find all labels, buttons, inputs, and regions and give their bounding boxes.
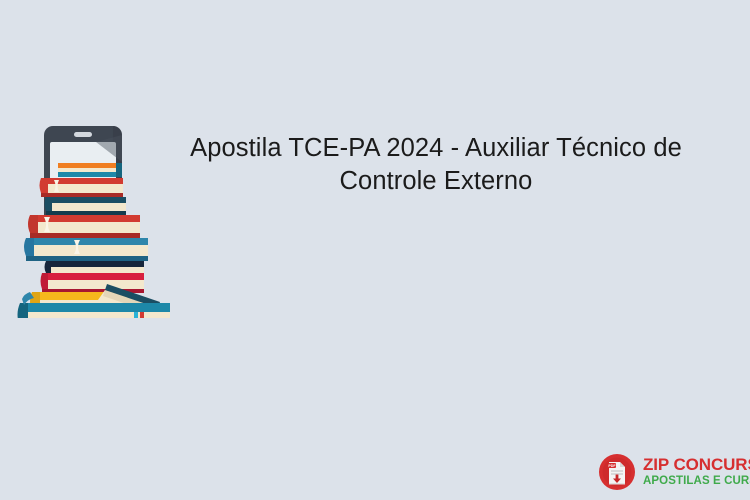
pdf-download-circle-icon: PDF <box>598 453 636 491</box>
logo-secondary-text: APOSTILAS E CURSOS <box>643 476 750 488</box>
brand-logo[interactable]: PDF ZIP CONCURSOS APOSTILAS E CURSOS <box>598 450 738 494</box>
stack-of-books-with-tablet-illustration <box>8 122 180 318</box>
logo-primary-text: ZIP CONCURSOS <box>643 456 750 473</box>
promotional-banner: Apostila TCE-PA 2024 - Auxiliar Técnico … <box>0 0 750 500</box>
book-layer-5 <box>24 238 148 261</box>
title-block: Apostila TCE-PA 2024 - Auxiliar Técnico … <box>190 132 682 198</box>
book-layer-top <box>58 163 122 177</box>
book-layer-3 <box>45 197 127 215</box>
page-title: Apostila TCE-PA 2024 - Auxiliar Técnico … <box>190 132 682 198</box>
book-layer-4 <box>28 215 140 238</box>
logo-wordmark: ZIP CONCURSOS APOSTILAS E CURSOS <box>643 456 750 488</box>
book-layer-base <box>18 303 171 318</box>
svg-text:PDF: PDF <box>608 464 616 468</box>
book-layer-7 <box>41 273 145 293</box>
book-layer-6 <box>45 261 145 273</box>
book-layer-2 <box>40 178 124 197</box>
